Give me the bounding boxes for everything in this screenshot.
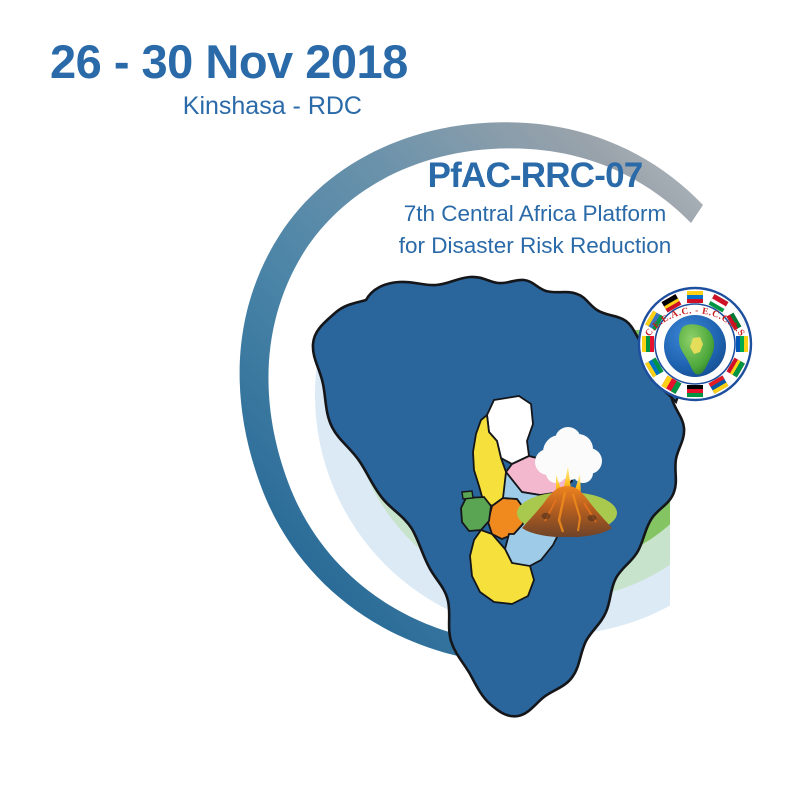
poster-canvas: C.E.E.A.C. - E.C.C.A.S 26 - 30 Nov 2018 … <box>0 0 795 800</box>
title-block: PfAC-RRC-07 7th Central Africa Platform … <box>352 158 718 260</box>
event-acronym: PfAC-RRC-07 <box>352 158 718 195</box>
ceeac-eccas-logo: C.E.E.A.C. - E.C.C.A.S <box>0 0 795 800</box>
event-subtitle-line1: 7th Central Africa Platform <box>352 200 718 227</box>
event-subtitle-line2: for Disaster Risk Reduction <box>352 232 718 259</box>
